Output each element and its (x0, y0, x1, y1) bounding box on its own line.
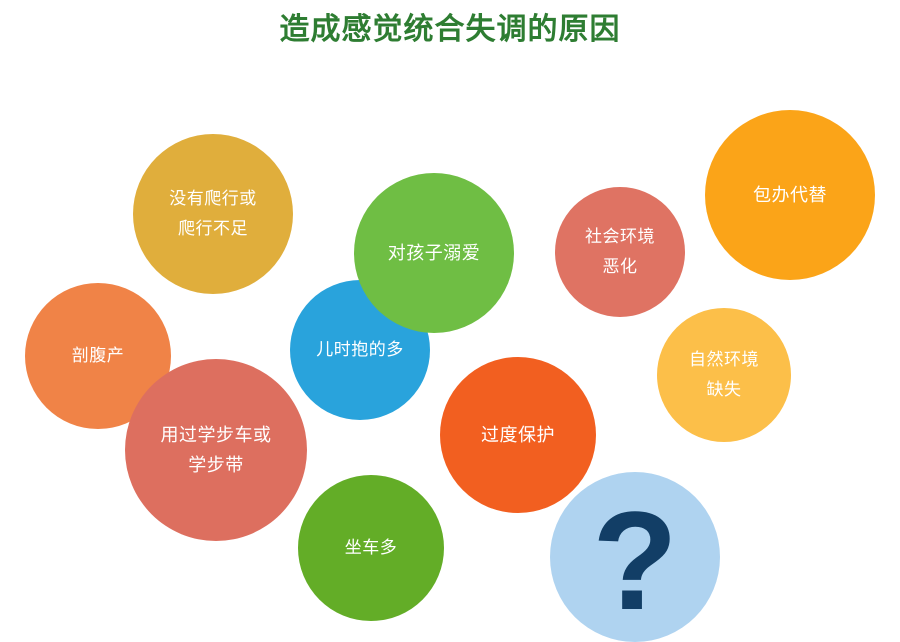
question-mark-icon: ? (592, 501, 678, 621)
bubble-label-spoiling-child: 对孩子溺爱 (382, 239, 487, 267)
bubble-label-social-environment: 社会环境 恶化 (579, 222, 661, 282)
bubble-label-cesarean: 剖腹产 (66, 342, 131, 370)
bubble-nature-deficit[interactable]: 自然环境 缺失 (657, 308, 791, 442)
bubble-baby-walker[interactable]: 用过学步车或 学步带 (125, 359, 307, 541)
bubble-riding-in-car[interactable]: 坐车多 (298, 475, 444, 621)
bubble-label-held-too-much: 儿时抱的多 (310, 336, 410, 364)
bubble-overprotection[interactable]: 过度保护 (440, 357, 596, 513)
bubble-label-baby-walker: 用过学步车或 学步带 (155, 420, 278, 480)
bubble-question-mark[interactable]: ? (550, 472, 720, 642)
bubble-label-nature-deficit: 自然环境 缺失 (683, 345, 765, 405)
infographic-canvas: 造成感觉统合失调的原因 没有爬行或 爬行不足剖腹产用过学步车或 学步带儿时抱的多… (0, 0, 900, 642)
bubble-label-riding-in-car: 坐车多 (339, 534, 404, 562)
bubble-spoiling-child[interactable]: 对孩子溺爱 (354, 173, 514, 333)
bubble-doing-everything-for-child[interactable]: 包办代替 (705, 110, 875, 280)
bubble-no-crawling[interactable]: 没有爬行或 爬行不足 (133, 134, 293, 294)
bubble-social-environment[interactable]: 社会环境 恶化 (555, 187, 685, 317)
page-title: 造成感觉统合失调的原因 (0, 8, 900, 52)
bubble-label-doing-everything-for-child: 包办代替 (747, 181, 833, 209)
bubble-label-overprotection: 过度保护 (475, 421, 561, 449)
bubble-label-no-crawling: 没有爬行或 爬行不足 (163, 184, 263, 244)
